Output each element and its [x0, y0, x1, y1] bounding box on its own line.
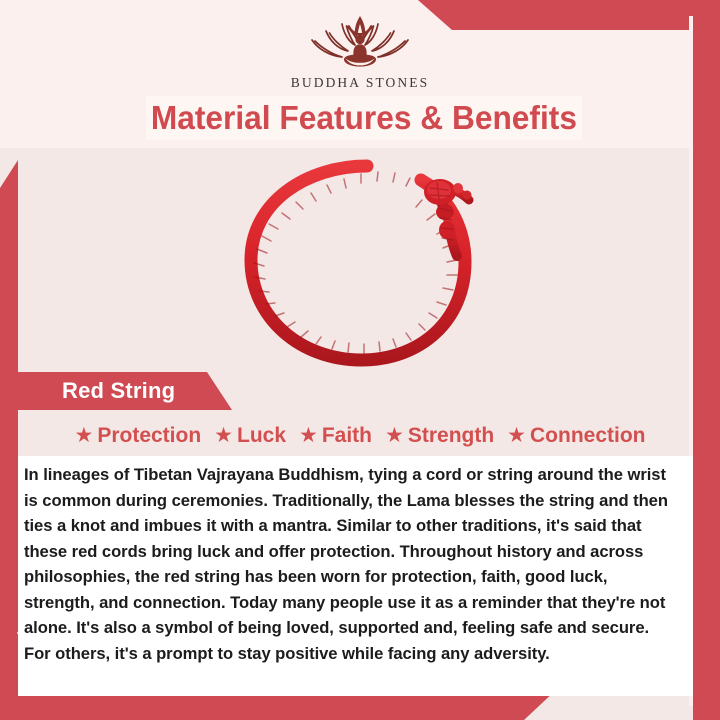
keyword-item: ★ Connection [507, 424, 645, 448]
description-panel: In lineages of Tibetan Vajrayana Buddhis… [18, 456, 693, 696]
brand-wordmark: BUDDHA STONES [291, 75, 429, 91]
lotus-meditation-icon [304, 14, 416, 72]
keyword-item: ★ Strength [385, 424, 494, 448]
brand-logo: BUDDHA STONES [0, 14, 720, 91]
keyword-label: Connection [530, 424, 646, 448]
star-icon: ★ [75, 425, 94, 446]
keyword-label: Protection [97, 424, 201, 448]
frame-right-bar [693, 0, 720, 720]
keyword-list: ★ Protection ★ Luck ★ Faith ★ Strength ★… [36, 418, 684, 454]
red-braided-cord-bracelet-icon [225, 152, 495, 374]
star-icon: ★ [385, 425, 404, 446]
star-icon: ★ [507, 425, 526, 446]
keyword-item: ★ Protection [75, 424, 202, 448]
product-name-label: Red String [62, 378, 175, 404]
product-name-ribbon: Red String [0, 372, 232, 410]
star-icon: ★ [214, 425, 233, 446]
keyword-item: ★ Luck [214, 424, 286, 448]
keyword-label: Luck [237, 424, 286, 448]
keyword-label: Strength [408, 424, 494, 448]
keyword-label: Faith [322, 424, 372, 448]
keyword-item: ★ Faith [299, 424, 372, 448]
page-title: Material Features & Benefits [151, 99, 577, 137]
star-icon: ★ [299, 425, 318, 446]
description-text: In lineages of Tibetan Vajrayana Buddhis… [24, 462, 671, 666]
product-image [36, 150, 684, 375]
title-band: Material Features & Benefits [146, 96, 582, 140]
poster-canvas: BUDDHA STONES Material Features & Benefi… [0, 0, 720, 720]
